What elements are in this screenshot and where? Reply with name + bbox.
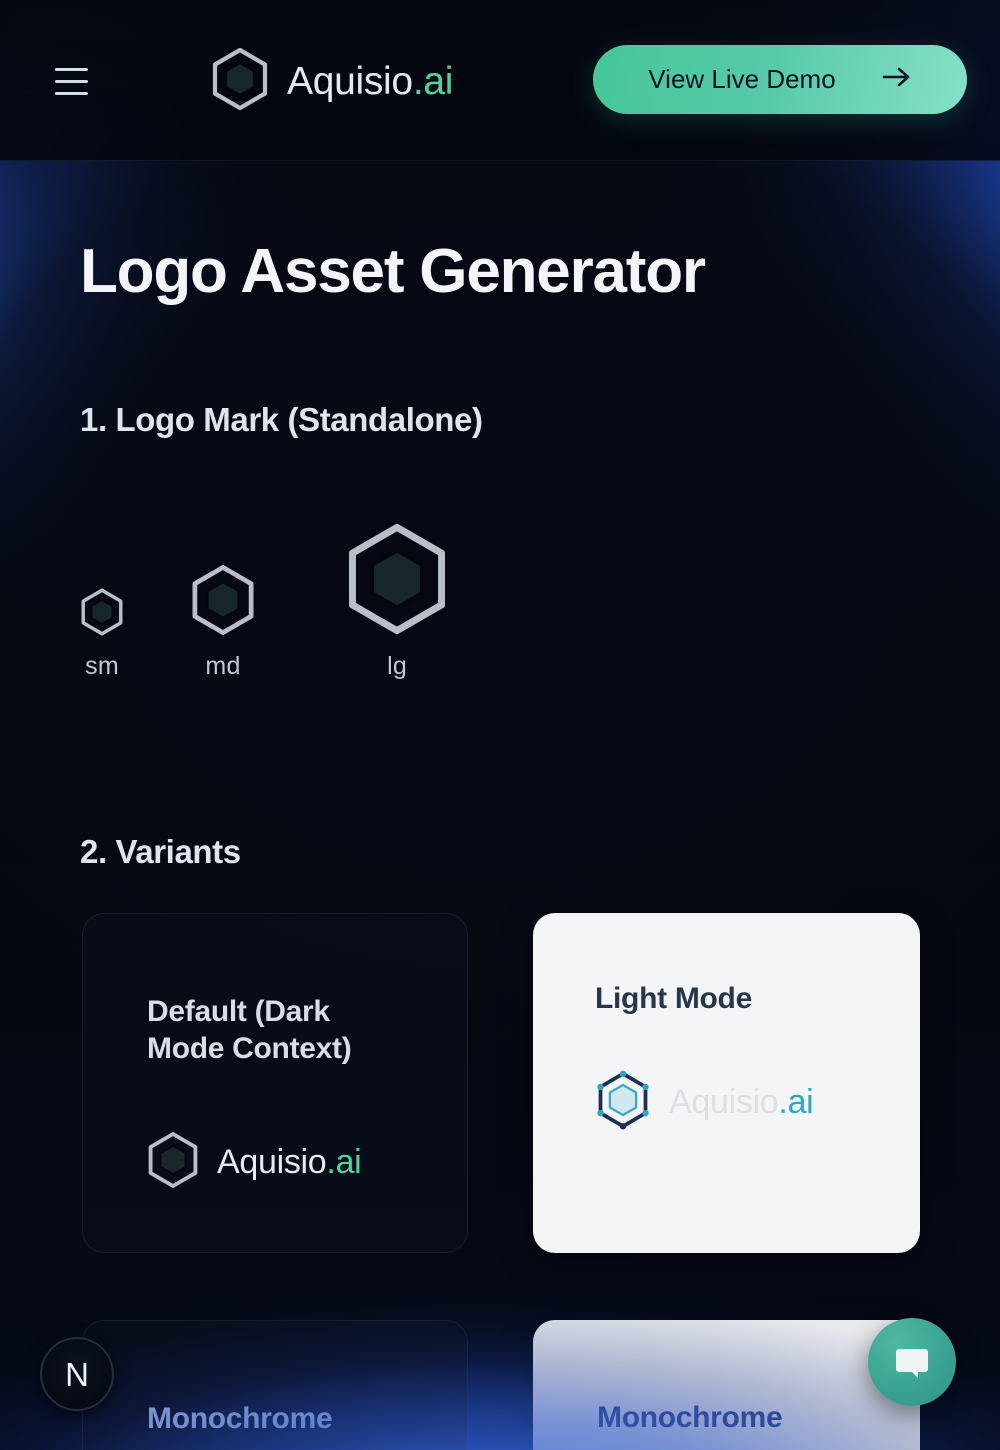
lockup-name: Aquisio <box>217 1143 326 1181</box>
variant-card-title: Default (Dark Mode Context) <box>147 994 407 1067</box>
variant-card-title: Light Mode <box>595 981 920 1018</box>
lockup-suffix: .ai <box>778 1083 813 1121</box>
site-header: Aquisio.ai View Live Demo <box>0 0 1000 161</box>
logo-lockup: Aquisio.ai <box>147 1131 467 1194</box>
logo-size-sm[interactable]: sm <box>80 588 124 681</box>
logo-size-md[interactable]: md <box>190 564 256 681</box>
hexagon-logo-icon <box>190 564 256 636</box>
variant-card-default-dark[interactable]: Default (Dark Mode Context) Aquisio.ai <box>82 913 468 1253</box>
arrow-right-icon <box>882 65 912 93</box>
logo-size-label: md <box>205 652 240 681</box>
logo-size-label: sm <box>85 652 119 681</box>
hexagon-logo-icon <box>80 588 124 636</box>
dev-indicator-label: N <box>65 1358 89 1391</box>
variant-card-light-mode[interactable]: Light Mode <box>533 913 920 1253</box>
logo-size-swatch-row: sm md <box>80 481 510 681</box>
hexagon-logo-icon <box>211 47 269 116</box>
menu-bar-2 <box>55 80 88 83</box>
brand-logo-link[interactable]: Aquisio.ai <box>211 47 453 116</box>
logo-size-label: lg <box>387 652 407 681</box>
section-heading-logo-mark: 1. Logo Mark (Standalone) <box>80 401 483 439</box>
brand-wordmark: Aquisio.ai <box>287 60 453 104</box>
lockup-name: Aquisio <box>669 1083 778 1121</box>
variant-card-monochrome-light[interactable]: Monochrome <box>533 1320 920 1450</box>
view-live-demo-label: View Live Demo <box>648 64 835 95</box>
menu-bar-1 <box>55 68 88 71</box>
view-live-demo-button[interactable]: View Live Demo <box>593 45 967 114</box>
variant-card-title: Monochrome <box>597 1400 920 1437</box>
page-title: Logo Asset Generator <box>80 236 705 307</box>
lockup-suffix: .ai <box>326 1143 361 1181</box>
lockup-wordmark: Aquisio.ai <box>669 1083 813 1122</box>
hexagon-logo-icon <box>345 522 449 636</box>
page-surface: Aquisio.ai View Live Demo Logo Asset Gen… <box>0 0 1000 1450</box>
variant-card-monochrome-dark[interactable]: Monochrome <box>82 1320 468 1450</box>
logo-lockup: Aquisio.ai <box>595 1070 920 1135</box>
section-heading-variants: 2. Variants <box>80 833 241 871</box>
hexagon-logo-icon <box>147 1131 199 1194</box>
menu-bar-3 <box>55 92 88 95</box>
hamburger-menu-icon[interactable] <box>55 62 95 100</box>
brand-name: Aquisio <box>287 60 413 103</box>
chat-bubble-icon[interactable] <box>868 1318 956 1406</box>
hexagon-logo-icon <box>595 1070 651 1135</box>
logo-size-lg[interactable]: lg <box>345 522 449 681</box>
variant-card-title: Monochrome <box>147 1401 467 1438</box>
app-viewport: Aquisio.ai View Live Demo Logo Asset Gen… <box>0 0 1000 1450</box>
brand-suffix: .ai <box>413 60 453 103</box>
nextjs-dev-indicator-icon[interactable]: N <box>40 1337 114 1411</box>
lockup-wordmark: Aquisio.ai <box>217 1143 361 1182</box>
